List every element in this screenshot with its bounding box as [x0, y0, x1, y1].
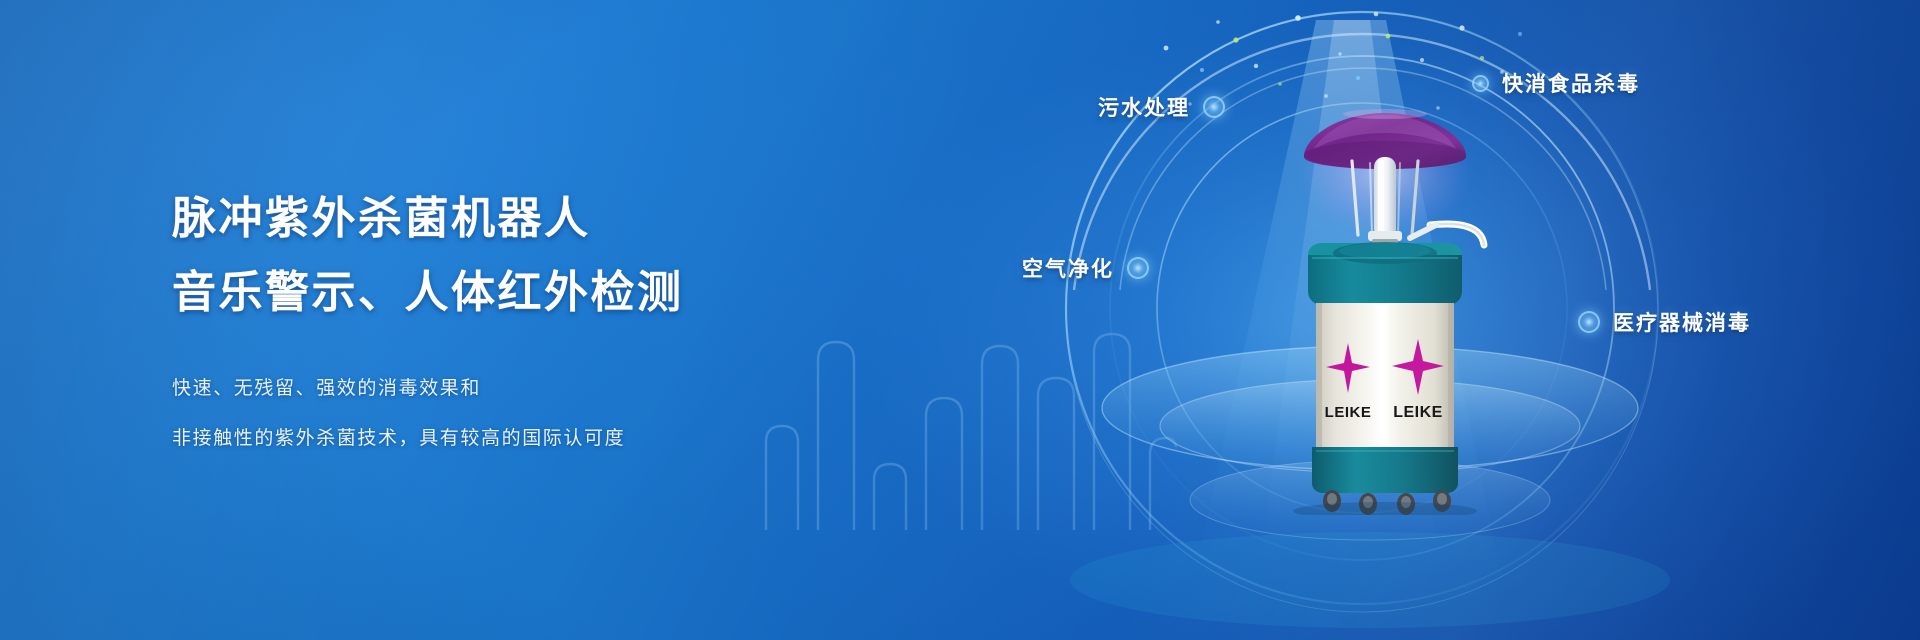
- ring-dot-icon: [1578, 311, 1600, 333]
- uv-sterilizer-robot-illustration: LEIKE LEIKE: [1260, 95, 1510, 515]
- headline-copy-block: 脉冲紫外杀菌机器人 音乐警示、人体红外检测 快速、无残留、强效的消毒效果和 非接…: [172, 188, 872, 454]
- subtitle-line-1: 快速、无残留、强效的消毒效果和: [172, 375, 872, 404]
- ring-dot-icon: [1127, 257, 1149, 279]
- product-banner: LEIKE LEIKE 脉冲紫外杀菌机器人 音乐警示、人体红外检测 快速、无残留…: [0, 0, 1920, 640]
- callout-label: 快消食品杀毒: [1502, 68, 1640, 98]
- callout-label: 空气净化: [1022, 253, 1114, 283]
- title-line-1: 脉冲紫外杀菌机器人: [172, 188, 872, 250]
- ring-dot-icon: [1472, 75, 1489, 92]
- title-line-2: 音乐警示、人体红外检测: [172, 262, 872, 324]
- ring-dot-icon: [1203, 96, 1225, 118]
- callout-air-purify: 空气净化: [1022, 253, 1149, 283]
- callout-food-sterilize: 快消食品杀毒: [1472, 68, 1640, 98]
- svg-text:LEIKE: LEIKE: [1393, 404, 1443, 421]
- callout-label: 医疗器械消毒: [1613, 307, 1751, 337]
- callout-medical-disinfect: 医疗器械消毒: [1578, 307, 1751, 337]
- callout-waste-water: 污水处理: [1098, 92, 1225, 122]
- callout-label: 污水处理: [1098, 92, 1190, 122]
- svg-text:LEIKE: LEIKE: [1325, 404, 1372, 421]
- subtitle-line-2: 非接触性的紫外杀菌技术，具有较高的国际认可度: [172, 425, 872, 454]
